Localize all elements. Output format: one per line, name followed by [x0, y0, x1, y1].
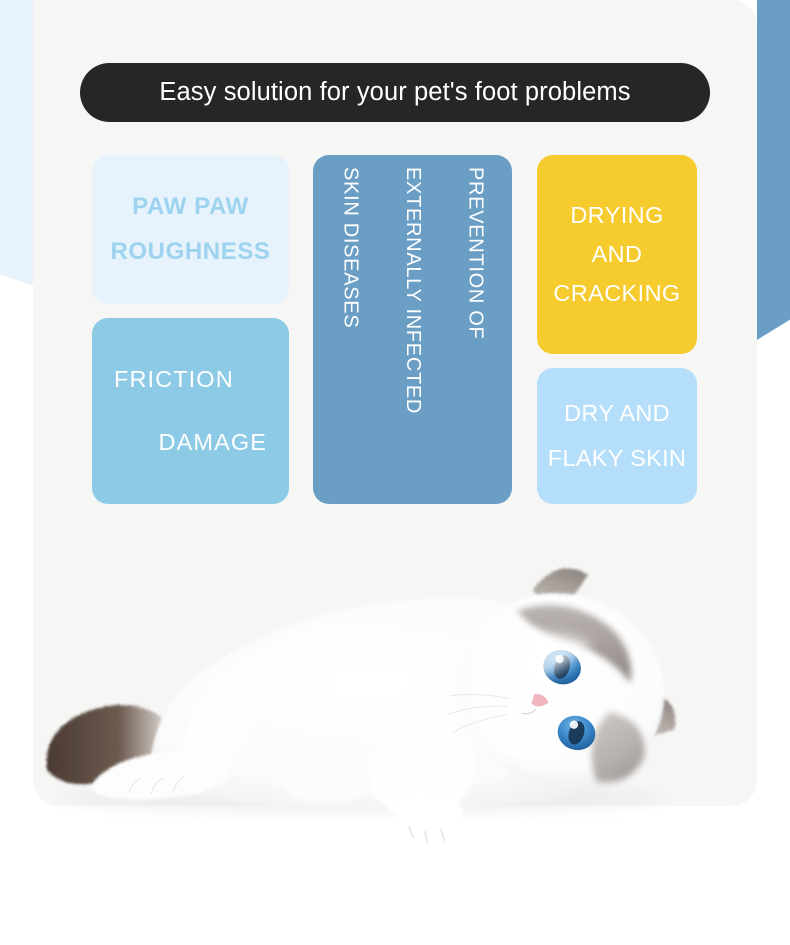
decorative-shape-right	[757, 0, 790, 340]
card-friction-damage-line-2: DAMAGE	[114, 426, 267, 459]
page-title-pill: Easy solution for your pet's foot proble…	[80, 63, 710, 122]
card-dry-flaky-skin: DRY AND FLAKY SKIN	[537, 368, 697, 504]
card-drying-cracking-line-2: AND	[592, 235, 643, 274]
prevention-text-prevention-of: PREVENTION OF	[463, 167, 486, 339]
card-dry-flaky-skin-line-1: DRY AND	[564, 391, 670, 436]
prevention-column-2: EXTERNALLY INFECTED	[381, 167, 443, 492]
prevention-column-3: SKIN DISEASES	[319, 167, 381, 492]
prevention-column-1: PREVENTION OF	[444, 167, 506, 492]
cat-photo	[33, 520, 757, 840]
promo-banner: Easy solution for your pet's foot proble…	[0, 0, 790, 945]
cat-illustration	[33, 520, 757, 850]
card-drying-cracking: DRYING AND CRACKING	[537, 155, 697, 354]
prevention-text-skin-diseases: SKIN DISEASES	[339, 167, 362, 328]
page-title: Easy solution for your pet's foot proble…	[159, 78, 630, 107]
card-friction-damage-line-1: FRICTION	[114, 363, 267, 396]
card-drying-cracking-line-3: CRACKING	[553, 274, 680, 313]
decorative-shape-left	[0, 0, 34, 286]
card-paw-roughness-line-1: PAW PAW	[132, 185, 249, 230]
card-friction-damage: FRICTION DAMAGE	[92, 318, 289, 504]
card-drying-cracking-line-1: DRYING	[570, 196, 663, 235]
card-paw-roughness-line-2: ROUGHNESS	[110, 230, 270, 275]
card-paw-roughness: PAW PAW ROUGHNESS	[92, 155, 289, 304]
prevention-text-externally-infected: EXTERNALLY INFECTED	[401, 167, 424, 414]
card-dry-flaky-skin-line-2: FLAKY SKIN	[548, 436, 686, 481]
card-prevention-skin-diseases: SKIN DISEASES EXTERNALLY INFECTED PREVEN…	[313, 155, 512, 504]
